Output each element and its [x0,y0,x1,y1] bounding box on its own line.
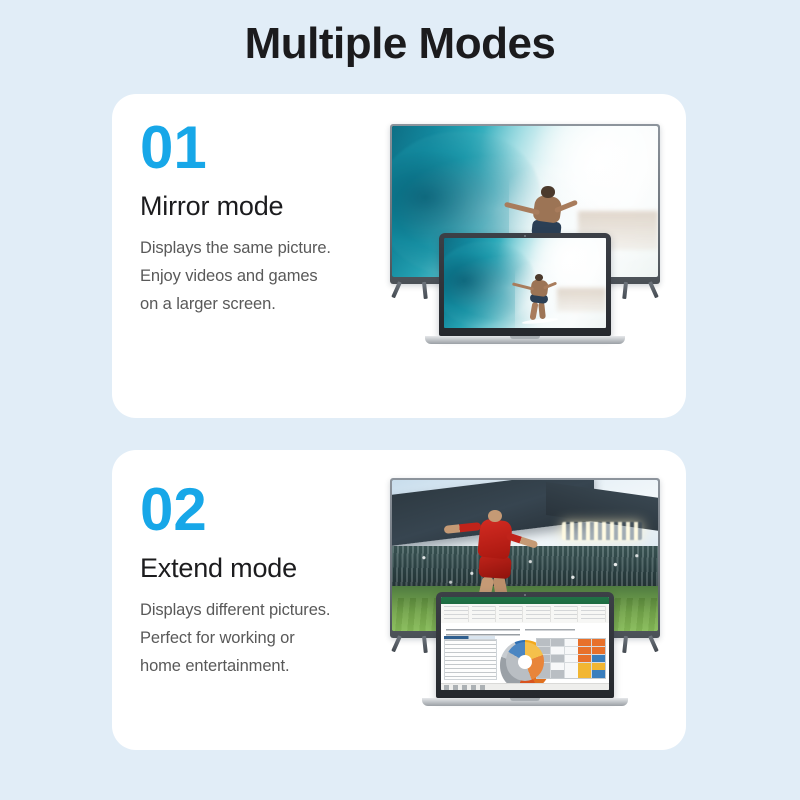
grid-cell [592,647,605,654]
laptop-lid [439,233,611,336]
laptop [436,592,614,706]
ribbon-group [526,606,550,621]
ribbon-group [499,606,523,621]
card-text-block: 01 Mirror mode Displays the same picture… [140,116,390,318]
spreadsheet-titlebar [441,597,609,604]
grid-cell [537,639,550,646]
mirror-mode-illustration [390,114,660,346]
spreadsheet-scene [441,597,609,690]
ribbon-group [581,606,605,621]
tv-foot-left [396,636,440,652]
webcam-icon [524,235,527,238]
mode-card-mirror: 01 Mirror mode Displays the same picture… [112,94,686,418]
tv-foot-left [396,282,440,298]
grid-cell [565,639,578,646]
grid-cell [551,670,564,677]
card-body-line: home entertainment. [140,652,390,680]
extend-mode-illustration [390,468,660,708]
grid-cell [578,655,591,662]
card-body-line: Displays different pictures. [140,596,390,624]
grid-cell [565,647,578,654]
grid-cell [551,647,564,654]
card-heading-extend-mode: Extend mode [140,552,390,584]
grid-cell [565,663,578,670]
card-body-line: Perfect for working or [140,624,390,652]
card-number-01: 01 [140,116,390,180]
page-title: Multiple Modes [0,16,800,72]
surfer-leg [538,302,546,319]
grid-cell [578,647,591,654]
laptop [439,233,611,344]
grid-cell [592,663,605,670]
grid-cell [592,670,605,677]
spreadsheet-ribbon [441,604,609,624]
grid-cell [551,663,564,670]
data-table [444,639,496,680]
donut-chart-inner [506,642,545,681]
card-text-block: 02 Extend mode Displays different pictur… [140,478,390,680]
mode-card-extend: 02 Extend mode Displays different pictur… [112,450,686,750]
grid-cell [578,670,591,677]
laptop-screen-spreadsheet [441,597,609,690]
heatmap-cell-grid [536,638,605,679]
ribbon-groups [444,606,605,621]
card-heading-mirror-mode: Mirror mode [140,190,390,222]
laptop-notch [510,336,540,339]
player-arm [505,532,538,549]
grid-cell [551,639,564,646]
spreadsheet-body [441,628,609,685]
laptop-lid [436,592,614,698]
ribbon-group [554,606,578,621]
floodlights [562,522,642,540]
surfer-figure [519,274,574,326]
tv-foot-right [610,636,654,652]
laptop-notch [510,698,540,701]
laptop-base [422,698,628,706]
surfer-head [535,274,543,281]
card-body-text: Displays the same picture. Enjoy videos … [140,234,390,318]
ribbon-group [444,606,468,621]
dashboard-subtitle-text [525,629,575,634]
card-body-line: Displays the same picture. [140,234,390,262]
laptop-base [425,336,625,344]
surfer-head [541,186,555,197]
card-body-line: on a larger screen. [140,290,390,318]
grid-cell [592,639,605,646]
grid-cell [592,655,605,662]
grid-cell [565,655,578,662]
grid-cell [565,670,578,677]
promo-page: Multiple Modes 01 Mirror mode Displays t… [0,0,800,800]
tv-foot-right [610,282,654,298]
grid-cell [578,663,591,670]
grid-cell [578,639,591,646]
sheet-tabs [444,685,488,690]
ribbon-group [472,606,496,621]
card-body-text: Displays different pictures. Perfect for… [140,596,390,680]
card-number-02: 02 [140,478,390,542]
webcam-icon [524,594,527,597]
surfer-leg [529,302,538,321]
laptop-screen-wave [444,238,606,328]
wave-scene-mirrored [444,238,606,328]
grid-cell [551,655,564,662]
card-body-line: Enjoy videos and games [140,262,390,290]
player-shorts [478,555,511,580]
